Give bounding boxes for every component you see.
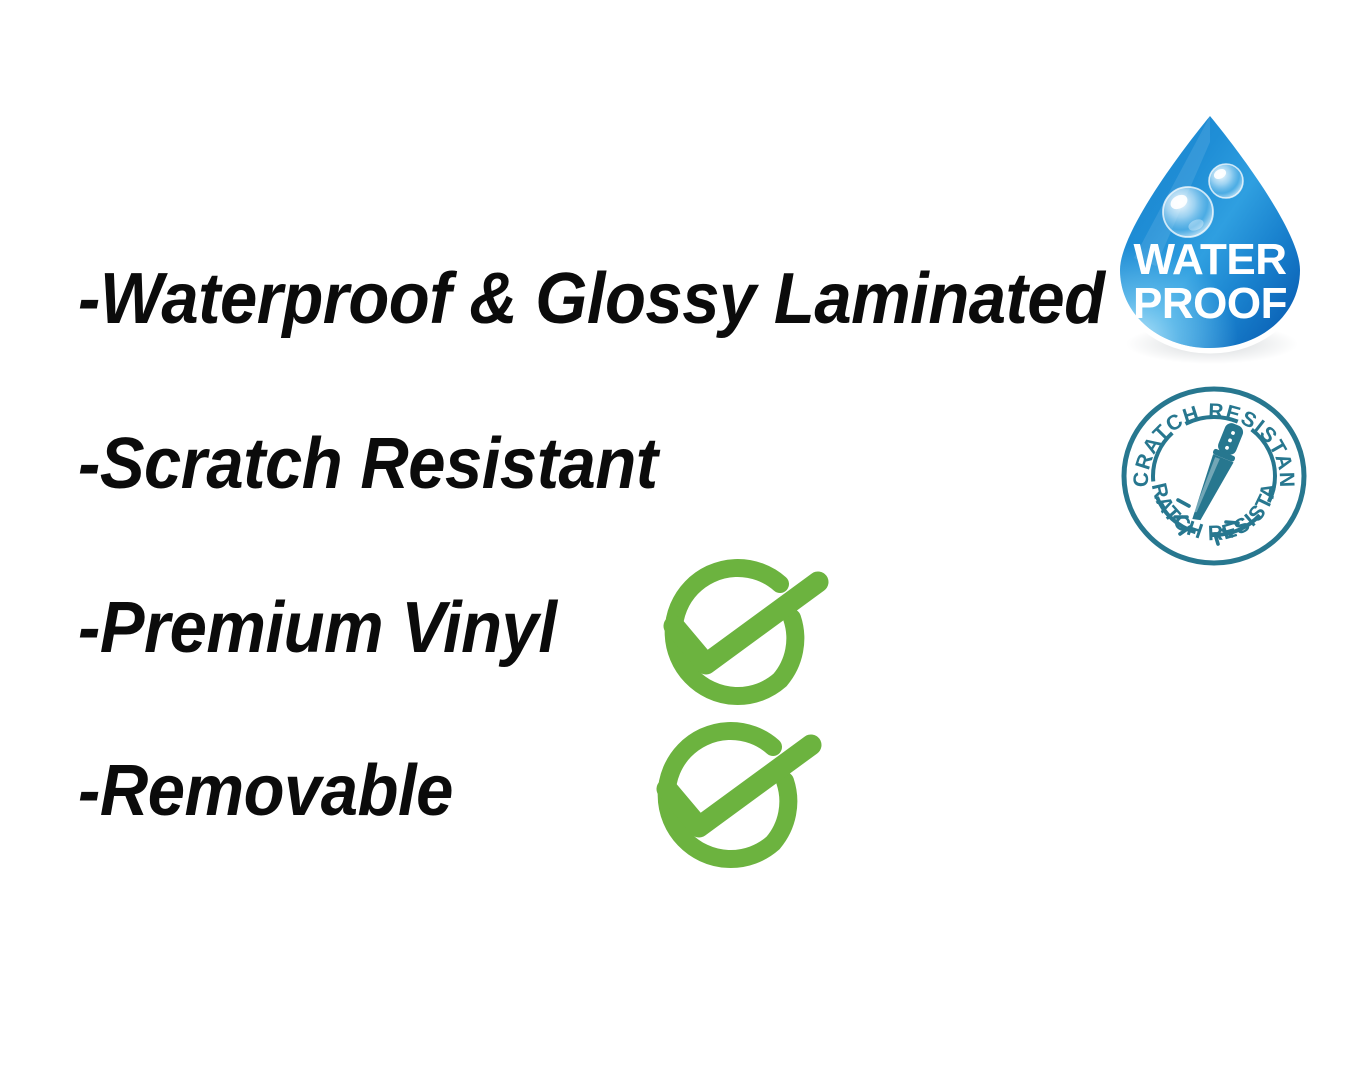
checkmark-removable (633, 719, 833, 871)
feature-item-premium-vinyl: -Premium Vinyl (78, 592, 556, 664)
feature-item-scratch-resistant: -Scratch Resistant (78, 428, 658, 500)
feature-item-waterproof-glossy-laminated: -Waterproof & Glossy Laminated (78, 263, 1105, 335)
waterproof-line2: PROOF (1133, 279, 1287, 328)
knife-stamp-icon: SCRATCH RESISTANT SCRATCH RESISTANT (1118, 384, 1310, 568)
knife-blade (1188, 454, 1234, 525)
check-circle-icon (640, 556, 840, 708)
feature-item-removable: -Removable (78, 755, 453, 827)
checkmark-premium-vinyl (640, 556, 840, 708)
check-circle-icon (633, 719, 833, 871)
scratch-resistant-badge: SCRATCH RESISTANT SCRATCH RESISTANT (1118, 384, 1310, 568)
waterproof-line1: WATER (1133, 235, 1286, 284)
waterproof-badge: WATER PROOF (1104, 108, 1316, 356)
bubble-large (1163, 187, 1213, 237)
knife-icon (1187, 420, 1247, 525)
feature-list-graphic: -Waterproof & Glossy Laminated -Scratch … (0, 0, 1359, 1080)
water-drop-icon: WATER PROOF (1104, 108, 1316, 356)
bubble-small (1209, 164, 1243, 198)
